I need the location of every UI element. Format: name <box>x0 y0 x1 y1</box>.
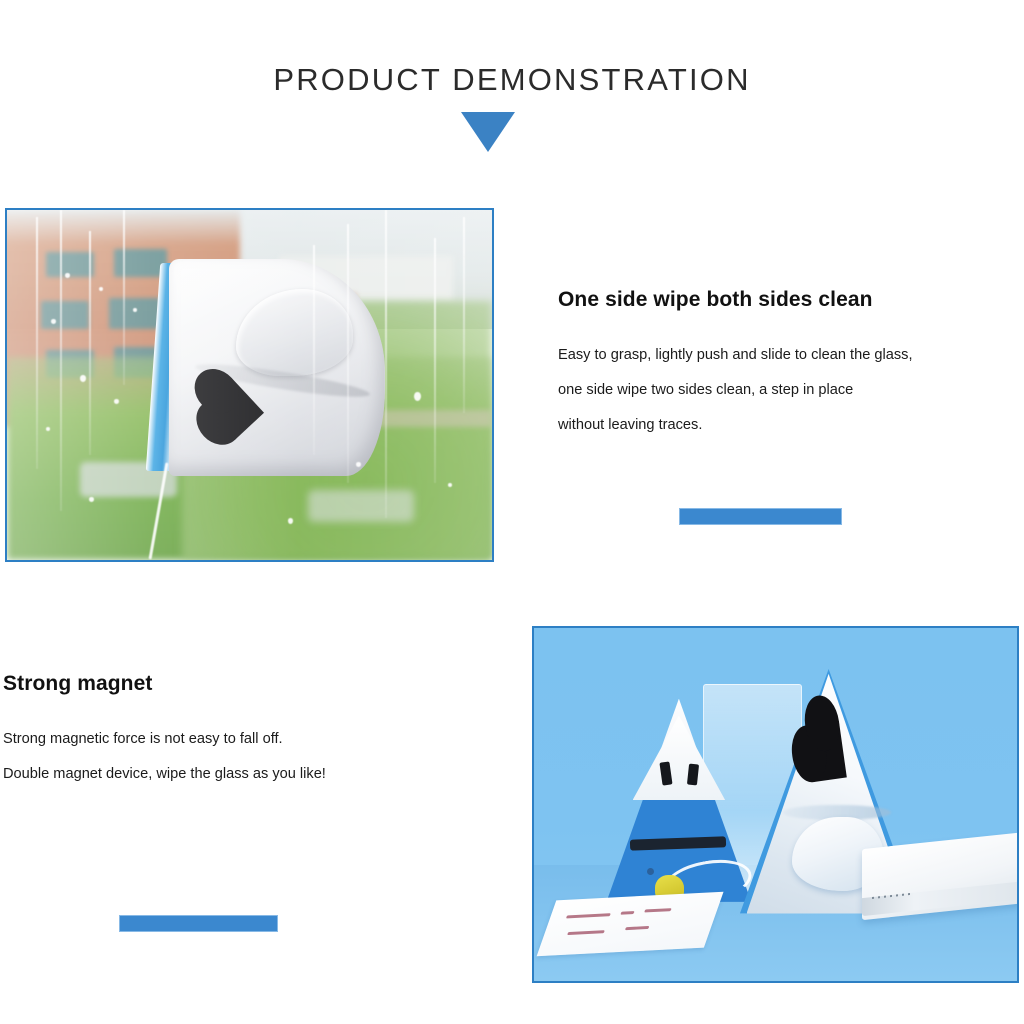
water-droplet <box>46 427 50 431</box>
water-droplet <box>114 399 119 404</box>
double-magnet-device-studio-photo <box>532 626 1019 983</box>
rain-streak <box>385 210 387 518</box>
section-one-side-wipe: One side wipe both sides clean Easy to g… <box>558 288 1013 443</box>
body-line: Easy to grasp, lightly push and slide to… <box>558 338 1013 373</box>
page-title: PRODUCT DEMONSTRATION <box>0 62 1024 98</box>
device-left-pad-housing <box>633 716 726 801</box>
rain-streak <box>123 210 125 385</box>
accent-bar-left <box>119 915 278 932</box>
device-pad-clip <box>686 764 698 786</box>
photo-2-scene <box>534 628 1017 981</box>
photo-1-scene <box>7 210 492 560</box>
accent-bar-right <box>679 508 842 525</box>
section-heading: Strong magnet <box>3 672 473 696</box>
section-body: Easy to grasp, lightly push and slide to… <box>558 338 1013 443</box>
card-mark <box>625 926 649 930</box>
card-mark <box>568 930 606 935</box>
water-droplet <box>80 375 86 382</box>
body-line: Strong magnetic force is not easy to fal… <box>3 722 473 757</box>
device-screw <box>647 868 654 875</box>
rain-streak <box>347 224 349 483</box>
triangle-down-icon <box>461 112 515 152</box>
body-line: one side wipe two sides clean, a step in… <box>558 373 1013 408</box>
body-line: Double magnet device, wipe the glass as … <box>3 757 473 792</box>
section-heading: One side wipe both sides clean <box>558 288 1013 312</box>
water-droplet <box>51 319 56 324</box>
card-mark <box>567 913 612 918</box>
rain-streak <box>89 231 91 455</box>
rain-streak <box>36 217 38 469</box>
section-strong-magnet: Strong magnet Strong magnetic force is n… <box>3 672 473 792</box>
section-body: Strong magnetic force is not easy to fal… <box>3 722 473 792</box>
rain-streak <box>434 238 436 483</box>
card-mark <box>621 911 635 915</box>
rain-streak <box>463 217 465 413</box>
window-fog-overlay <box>7 210 492 560</box>
body-line: without leaving traces. <box>558 408 1013 443</box>
rain-streak <box>60 210 62 511</box>
instruction-card <box>537 892 724 957</box>
card-mark <box>645 909 673 913</box>
window-cleaner-on-rainy-glass-photo <box>5 208 494 562</box>
rain-streak <box>313 245 315 455</box>
